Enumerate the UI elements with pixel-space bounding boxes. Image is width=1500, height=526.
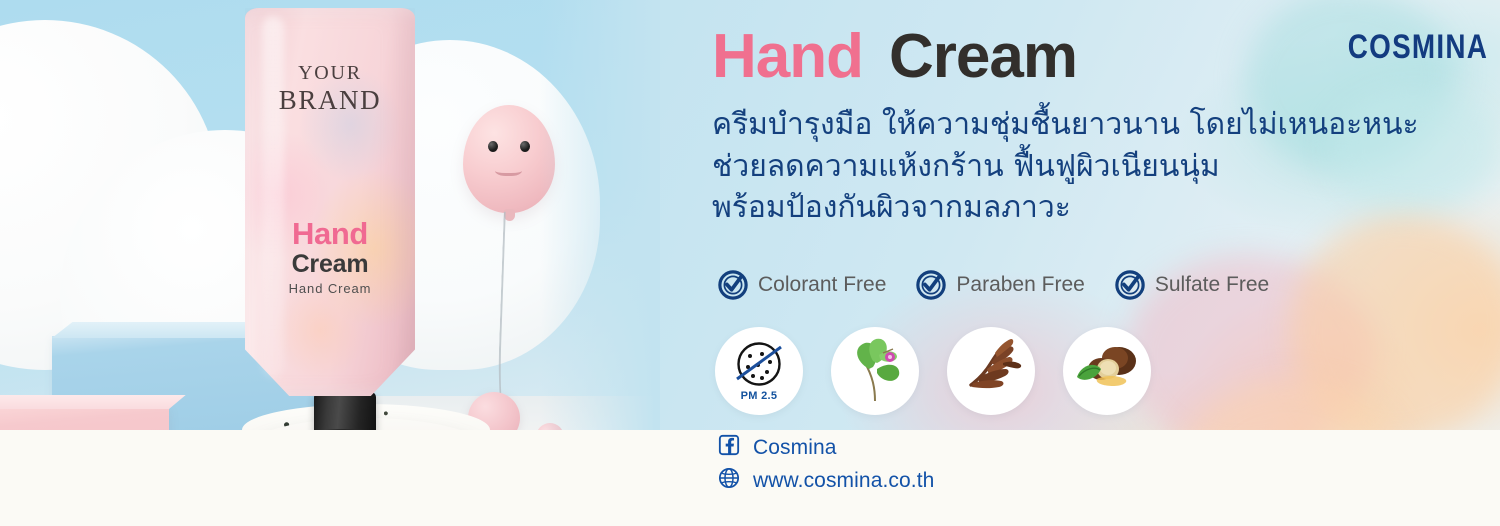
balloon-mouth [495, 163, 522, 176]
tube-brand-line1: YOUR [245, 62, 415, 85]
ingredient-shea-nut [1063, 327, 1151, 415]
headline: Hand Cream [712, 26, 1077, 88]
description-line-2: ช่วยลดความแห้งกร้าน ฟื้นฟูผิวเนียนนุ่ม [712, 146, 1472, 188]
feature-paraben-free: Paraben Free [916, 270, 1084, 300]
tube-brand-line2: BRAND [245, 85, 415, 116]
feature-label: Sulfate Free [1155, 273, 1269, 297]
pm25-caption: PM 2.5 [715, 390, 803, 402]
feature-badges: Colorant Free Paraben Free [718, 270, 1269, 300]
check-badge-icon [718, 270, 748, 300]
hand-cream-banner: YOUR BRAND Hand Cream Hand Cream Hand Cr… [0, 0, 1500, 526]
tube-product-cream: Cream [245, 250, 415, 278]
tube-product-label: Hand Cream Hand Cream [245, 218, 415, 296]
globe-icon [718, 467, 740, 494]
footer-contact: Cosmina www.cosmina.co.th [718, 434, 934, 500]
headline-word-hand: Hand [712, 26, 863, 88]
feature-label: Paraben Free [956, 273, 1084, 297]
tube-product-hand: Hand [245, 218, 415, 250]
ingredient-green-leaf [831, 327, 919, 415]
feature-label: Colorant Free [758, 273, 886, 297]
description-line-3: พร้อมป้องกันผิวจากมลภาวะ [712, 187, 1472, 229]
description-line-1: ครีมบำรุงมือ ให้ความชุ่มชื้นยาวนาน โดยไม… [712, 104, 1472, 146]
headline-word-cream: Cream [889, 26, 1077, 88]
feature-sulfate-free: Sulfate Free [1115, 270, 1269, 300]
facebook-row[interactable]: Cosmina [718, 434, 934, 461]
tube-product-subtitle: Hand Cream [245, 281, 415, 296]
feature-colorant-free: Colorant Free [718, 270, 886, 300]
ingredient-circles: PM 2.5 [715, 327, 1151, 415]
check-badge-icon [916, 270, 946, 300]
balloon-eye-left [488, 141, 498, 152]
website-row[interactable]: www.cosmina.co.th [718, 467, 934, 494]
balloon-eye-right [520, 141, 530, 152]
ingredient-pm25: PM 2.5 [715, 327, 803, 415]
check-badge-icon [1115, 270, 1145, 300]
tube-brand-label: YOUR BRAND [245, 62, 415, 116]
description-block: ครีมบำรุงมือ ให้ความชุ่มชื้นยาวนาน โดยไม… [712, 104, 1472, 229]
ingredient-seaweed [947, 327, 1035, 415]
shea-nut-icon [1067, 329, 1147, 414]
facebook-icon [718, 434, 740, 461]
cosmina-logo: COSMINA [1348, 28, 1488, 67]
green-leaf-plant-icon [835, 329, 915, 414]
website-label: www.cosmina.co.th [753, 469, 934, 493]
brown-seaweed-icon [951, 329, 1031, 414]
facebook-label: Cosmina [753, 436, 837, 460]
